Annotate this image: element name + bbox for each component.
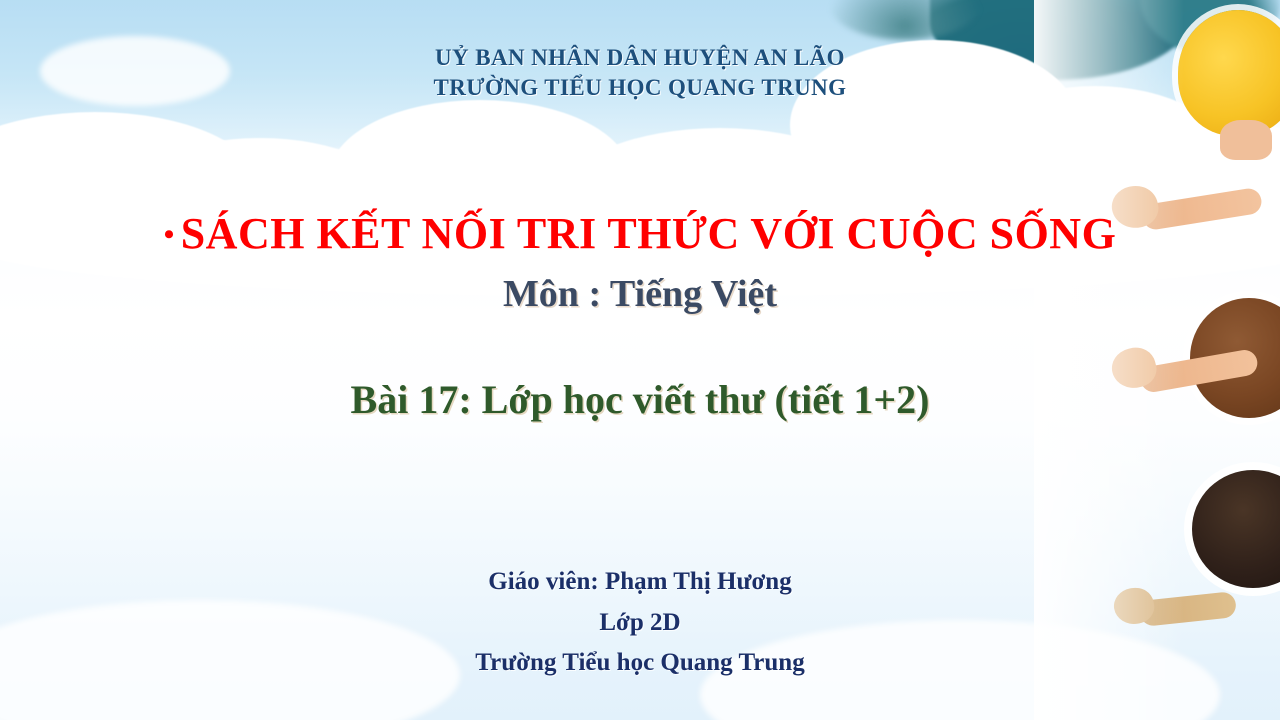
series-title-text: SÁCH KẾT NỐI TRI THỨC VỚI CUỘC SỐNG [181, 209, 1117, 258]
organization-line-1: UỶ BAN NHÂN DÂN HUYỆN AN LÃO [0, 43, 1280, 73]
school-name: Trường Tiểu học Quang Trung [0, 643, 1280, 684]
presenter-block: Giáo viên: Phạm Thị Hương Lớp 2D Trường … [0, 562, 1280, 684]
subject-line: Môn : Tiếng Việt [0, 272, 1280, 316]
title-slide: UỶ BAN NHÂN DÂN HUYỆN AN LÃO TRƯỜNG TIỂU… [0, 0, 1280, 720]
organization-line-2: TRƯỜNG TIỂU HỌC QUANG TRUNG [0, 73, 1280, 103]
slide-text-layer: UỶ BAN NHÂN DÂN HUYỆN AN LÃO TRƯỜNG TIỂU… [0, 0, 1280, 720]
lesson-title: Bài 17: Lớp học viết thư (tiết 1+2) [0, 376, 1280, 423]
bullet-icon: • [164, 218, 175, 251]
series-title: •SÁCH KẾT NỐI TRI THỨC VỚI CUỘC SỐNG [0, 208, 1280, 259]
classroom-name: Lớp 2D [0, 603, 1280, 644]
organization-heading: UỶ BAN NHÂN DÂN HUYỆN AN LÃO TRƯỜNG TIỂU… [0, 43, 1280, 104]
teacher-name: Giáo viên: Phạm Thị Hương [0, 562, 1280, 603]
